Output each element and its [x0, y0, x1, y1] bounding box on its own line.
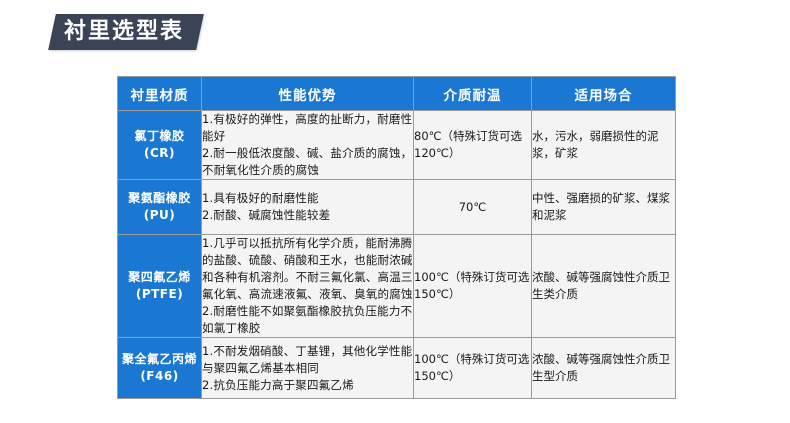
temperature-value: 100℃（特殊订货可选150℃） — [414, 351, 531, 385]
table-body: 氯丁橡胶 (CR) 1.有极好的弹性，高度的扯断力，耐磨性能好2.耐一般低浓度酸… — [118, 111, 676, 399]
cell-material: 聚四氟乙烯 (PTFE) — [118, 235, 202, 338]
material-code: (F46) — [118, 368, 201, 385]
material-name: 聚四氟乙烯 — [118, 269, 201, 286]
table-row: 聚四氟乙烯 (PTFE) 1.几乎可以抵抗所有化学介质，能耐沸腾的盐酸、硫酸、硝… — [118, 235, 676, 338]
temperature-value: 80℃（特殊订货可选120℃） — [414, 128, 531, 162]
table-header: 衬里材质 性能优势 介质耐温 适用场合 — [118, 77, 676, 111]
cell-performance: 1.具有极好的耐磨性能2.耐酸、碱腐蚀性能较差 — [202, 180, 414, 235]
cell-temperature: 70℃ — [414, 180, 532, 235]
cell-performance: 1.几乎可以抵抗所有化学介质，能耐沸腾的盐酸、硫酸、硝酸和王水，也能耐浓碱和各种… — [202, 235, 414, 338]
temperature-value: 70℃ — [459, 199, 487, 216]
cell-temperature: 100℃（特殊订货可选150℃） — [414, 338, 532, 399]
cell-temperature: 100℃（特殊订货可选150℃） — [414, 235, 532, 338]
material-name: 聚氨酯橡胶 — [118, 190, 201, 207]
column-header-performance: 性能优势 — [202, 77, 414, 111]
cell-performance: 1.不耐发烟硝酸、丁基锂，其他化学性能与聚四氟乙烯基本相同2.抗负压能力高于聚四… — [202, 338, 414, 399]
cell-application: 水，污水，弱磨损性的泥浆，矿浆 — [532, 111, 676, 180]
material-name: 聚全氟乙丙烯 — [118, 351, 201, 368]
material-code: (CR) — [118, 145, 201, 162]
lining-selection-table: 衬里材质 性能优势 介质耐温 适用场合 氯丁橡胶 (CR) 1.有极好的弹性，高… — [117, 76, 676, 399]
column-header-application: 适用场合 — [532, 77, 676, 111]
table-row: 氯丁橡胶 (CR) 1.有极好的弹性，高度的扯断力，耐磨性能好2.耐一般低浓度酸… — [118, 111, 676, 180]
table-row: 聚氨酯橡胶 (PU) 1.具有极好的耐磨性能2.耐酸、碱腐蚀性能较差 70℃ 中… — [118, 180, 676, 235]
lining-selection-table-wrapper: 衬里材质 性能优势 介质耐温 适用场合 氯丁橡胶 (CR) 1.有极好的弹性，高… — [117, 76, 675, 399]
cell-application: 浓酸、碱等强腐蚀性介质卫生类介质 — [532, 235, 676, 338]
table-header-row: 衬里材质 性能优势 介质耐温 适用场合 — [118, 77, 676, 111]
material-code: (PTFE) — [118, 286, 201, 303]
cell-performance: 1.有极好的弹性，高度的扯断力，耐磨性能好2.耐一般低浓度酸、碱、盐介质的腐蚀，… — [202, 111, 414, 180]
material-code: (PU) — [118, 207, 201, 224]
material-name: 氯丁橡胶 — [118, 128, 201, 145]
cell-material: 氯丁橡胶 (CR) — [118, 111, 202, 180]
page-title: 衬里选型表 — [64, 14, 184, 50]
page-title-banner: 衬里选型表 — [52, 14, 200, 50]
title-banner-shape: 衬里选型表 — [48, 14, 204, 50]
column-header-temperature: 介质耐温 — [414, 77, 532, 111]
cell-application: 浓酸、碱等强腐蚀性介质卫生型介质 — [532, 338, 676, 399]
cell-material: 聚全氟乙丙烯 (F46) — [118, 338, 202, 399]
cell-temperature: 80℃（特殊订货可选120℃） — [414, 111, 532, 180]
table-row: 聚全氟乙丙烯 (F46) 1.不耐发烟硝酸、丁基锂，其他化学性能与聚四氟乙烯基本… — [118, 338, 676, 399]
cell-application: 中性、强磨损的矿浆、煤浆和泥浆 — [532, 180, 676, 235]
cell-material: 聚氨酯橡胶 (PU) — [118, 180, 202, 235]
column-header-material: 衬里材质 — [118, 77, 202, 111]
temperature-value: 100℃（特殊订货可选150℃） — [414, 269, 531, 303]
